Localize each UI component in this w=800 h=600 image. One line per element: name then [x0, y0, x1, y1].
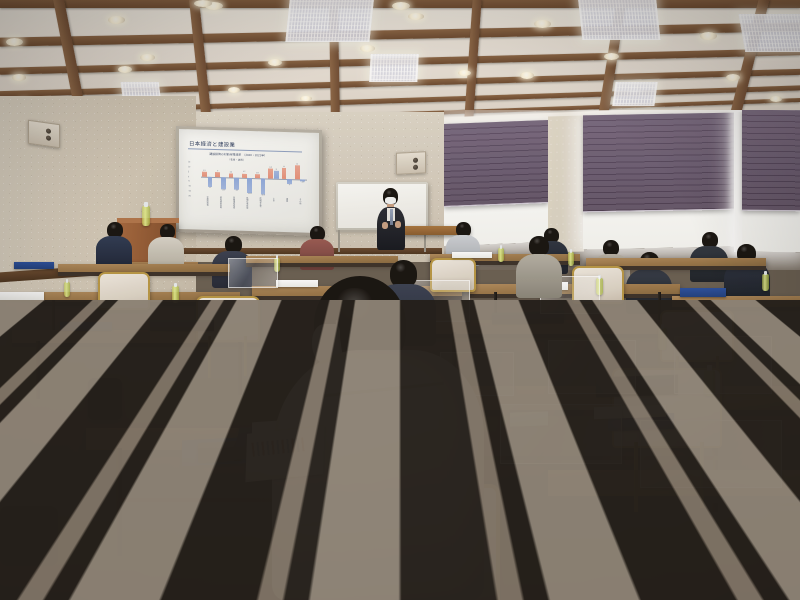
- downlight: [228, 87, 240, 93]
- chart-bar-label: -16.5: [261, 194, 265, 196]
- blue-binder: [680, 288, 726, 297]
- slide-subtitle: 建設投資の対前年増減率 （2020・2021年）: [209, 152, 267, 158]
- chart-bar-label: 4.5: [203, 170, 205, 172]
- downlight: [194, 0, 212, 7]
- window-blind: [444, 120, 548, 207]
- seminar-room-photo: 日本経済と建設業 建設投資の対前年増減率 （2020・2021年） （名目・実質…: [0, 0, 800, 600]
- chart-bar-label: -6: [289, 185, 291, 187]
- green-tea-bottle: [658, 328, 667, 350]
- slide-title-rule: [188, 148, 302, 152]
- blue-binder: [14, 262, 54, 269]
- bag: [88, 378, 122, 420]
- paper-handout: [452, 252, 492, 258]
- chart-bar: 3.8: [255, 174, 260, 178]
- downlight: [140, 54, 155, 61]
- table-leg: [116, 448, 122, 556]
- downlight: [6, 38, 23, 46]
- chart-xtick: その他: [299, 198, 302, 204]
- chart-bar: -11: [208, 176, 213, 187]
- table-leg: [238, 341, 242, 395]
- window-blind: [583, 113, 735, 213]
- chart-xtick: 民間非住宅: [259, 197, 262, 207]
- attendee: [690, 232, 728, 282]
- chair: [196, 296, 256, 338]
- table: [58, 264, 230, 272]
- chart-bar-label: 11: [283, 166, 285, 168]
- chart-bar-label: 5: [217, 170, 218, 172]
- chart-bar: -16.5: [261, 178, 266, 194]
- window-blind: [742, 110, 800, 211]
- downlight: [726, 74, 740, 81]
- table-leg: [36, 341, 40, 399]
- chart-xtick: 民間住宅投資: [246, 197, 249, 209]
- podium-bottle: [142, 206, 150, 226]
- chart-group: 5-12.5政府建設投資: [214, 162, 227, 196]
- presenter: [374, 188, 408, 250]
- chart-bar: 14: [295, 165, 300, 179]
- blue-binder: [60, 322, 112, 331]
- green-tea-bottle: [498, 248, 504, 262]
- presentation-slide: 日本経済と建設業 建設投資の対前年増減率 （2020・2021年） （名目・実質…: [187, 138, 311, 218]
- chart-bar-label: 14: [296, 163, 298, 165]
- acrylic-divider: [228, 258, 278, 288]
- green-tea-bottle: [762, 274, 769, 291]
- chart-xtick: 土木: [272, 198, 275, 202]
- slide-note: （名目・実質）: [228, 157, 246, 161]
- downlight: [770, 96, 782, 102]
- downlight: [392, 2, 410, 10]
- chart-bar-label: 3.8: [256, 172, 258, 174]
- chart-ytick: 15: [188, 161, 190, 163]
- chart-bar: -15.5: [247, 178, 252, 193]
- chart-ytick: 10: [188, 166, 190, 168]
- green-tea-bottle: [64, 282, 70, 297]
- chart-group: 11-6建築: [281, 164, 294, 198]
- chart-bar: -13: [234, 177, 239, 190]
- downlight: [700, 32, 717, 40]
- slide-title: 日本経済と建設業: [189, 139, 235, 148]
- chart-ytick: -5: [188, 181, 190, 183]
- chart-bar-label: 8: [276, 168, 277, 170]
- chart-xtick: 民間建設投資: [233, 197, 236, 209]
- chart-group: 9.58土木: [267, 164, 280, 198]
- table: [586, 258, 766, 266]
- presenter-tie: [390, 209, 393, 225]
- chair-leg: [208, 336, 211, 378]
- acrylic-divider: [548, 340, 636, 394]
- attendee-torso: [516, 254, 562, 298]
- chart-bar-label: 3.6: [230, 172, 232, 174]
- presenter-mask: [385, 197, 396, 204]
- downlight: [12, 74, 26, 81]
- downlight: [520, 72, 534, 79]
- acrylic-divider: [640, 420, 782, 488]
- dark-folder: [150, 320, 214, 331]
- chart-xtick: 政府建設投資: [219, 196, 222, 208]
- table: [672, 296, 800, 307]
- attendee-head: [529, 236, 549, 256]
- chair-leg: [244, 336, 247, 376]
- wall-speaker-front: [396, 151, 426, 175]
- downlight: [458, 70, 471, 76]
- chart-group: 3.8-16.5民間非住宅: [254, 163, 267, 197]
- chart-bar: 3.6: [229, 174, 234, 178]
- bag: [0, 506, 58, 566]
- downlight: [360, 45, 375, 52]
- chart-bar: -2.5: [300, 179, 305, 182]
- acrylic-divider: [674, 336, 772, 394]
- chart-bar-label: -12.5: [221, 189, 225, 191]
- chart-group: 4.5-11全建設投資: [201, 162, 214, 196]
- chair: [98, 272, 146, 306]
- chart-group: 3.6-13民間建設投資: [228, 162, 241, 196]
- chart-bar: -6: [287, 179, 292, 185]
- chart-ytick: 0: [188, 176, 189, 178]
- chart-bar: 4.2: [242, 173, 247, 177]
- downlight: [268, 59, 282, 66]
- chart-xtick: 建築: [286, 198, 289, 202]
- chart-ytick: -15: [188, 190, 191, 192]
- chart-bar-label: -13: [235, 190, 237, 192]
- chair-leg: [634, 442, 638, 512]
- downlight: [118, 66, 132, 73]
- chart-ytick: 5: [188, 171, 189, 173]
- downlight: [408, 13, 424, 20]
- downlight: [534, 20, 551, 28]
- chart-bar: 11: [282, 168, 287, 179]
- chart-group: 14-2.5その他: [294, 164, 307, 198]
- whiteboard-leg: [338, 230, 340, 252]
- chart-bar: 4.5: [202, 172, 207, 176]
- slide-bar-chart: 151050-5-10-15-204.5-11全建設投資5-12.5政府建設投資…: [201, 162, 307, 199]
- chart-group: 4.2-15.5民間住宅投資: [241, 163, 254, 197]
- chart-bar-label: -11: [209, 187, 211, 189]
- green-tea-bottle: [172, 286, 179, 303]
- ceiling-beam: [0, 22, 800, 46]
- presenter-hand: [395, 221, 401, 228]
- screen-surface: 日本経済と建設業 建設投資の対前年増減率 （2020・2021年） （名目・実質…: [179, 129, 319, 233]
- green-tea-bottle: [568, 252, 574, 266]
- paper-handout: [0, 292, 44, 300]
- chart-bar: 9.5: [268, 169, 273, 178]
- attendee: [516, 236, 562, 298]
- chart-bar: 5: [215, 172, 220, 177]
- chart-xtick: 全建設投資: [206, 196, 209, 206]
- chart-bar-label: 9.5: [269, 167, 271, 169]
- attendee: [96, 222, 132, 268]
- downlight: [300, 96, 312, 101]
- projection-screen: 日本経済と建設業 建設投資の対前年増減率 （2020・2021年） （名目・実質…: [176, 126, 322, 236]
- wall-speaker-left: [28, 120, 60, 148]
- chart-bar-label: -15.5: [248, 193, 252, 195]
- chart-bar-label: -2.5: [301, 181, 304, 183]
- chart-ytick: -20: [188, 195, 191, 197]
- downlight: [604, 53, 619, 60]
- chart-ytick: -10: [188, 186, 191, 188]
- downlight: [108, 16, 125, 24]
- chart-bar-label: 4.2: [243, 171, 245, 173]
- acrylic-divider: [500, 404, 622, 464]
- presenter-hand: [382, 222, 388, 229]
- chart-bar: -12.5: [221, 177, 226, 189]
- chart-bar: 8: [274, 171, 279, 179]
